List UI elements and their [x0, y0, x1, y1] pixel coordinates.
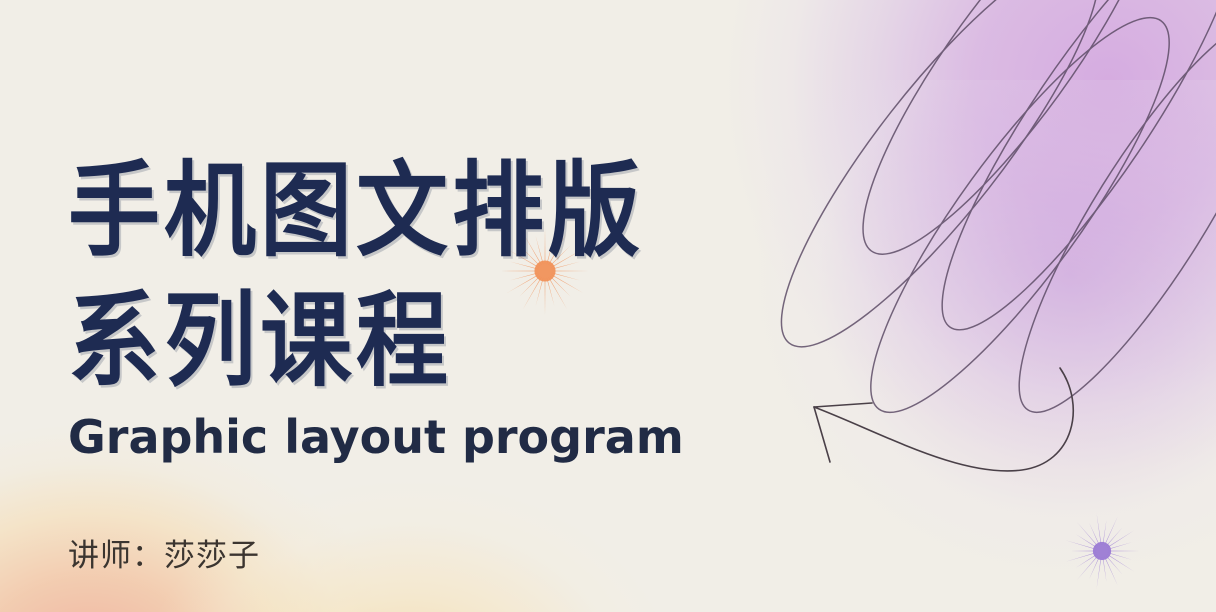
poster-subtitle: Graphic layout program — [68, 414, 684, 460]
poster-canvas: 手机图文排版 系列课程 Graphic layout program 讲师：莎莎… — [0, 0, 1216, 612]
poster-instructor: 讲师：莎莎子 — [68, 541, 260, 572]
text-content-block: 手机图文排版 系列课程 Graphic layout program 讲师：莎莎… — [68, 0, 768, 612]
poster-title-line-1: 手机图文排版 — [68, 160, 644, 263]
poster-title-line-2: 系列课程 — [68, 290, 452, 393]
